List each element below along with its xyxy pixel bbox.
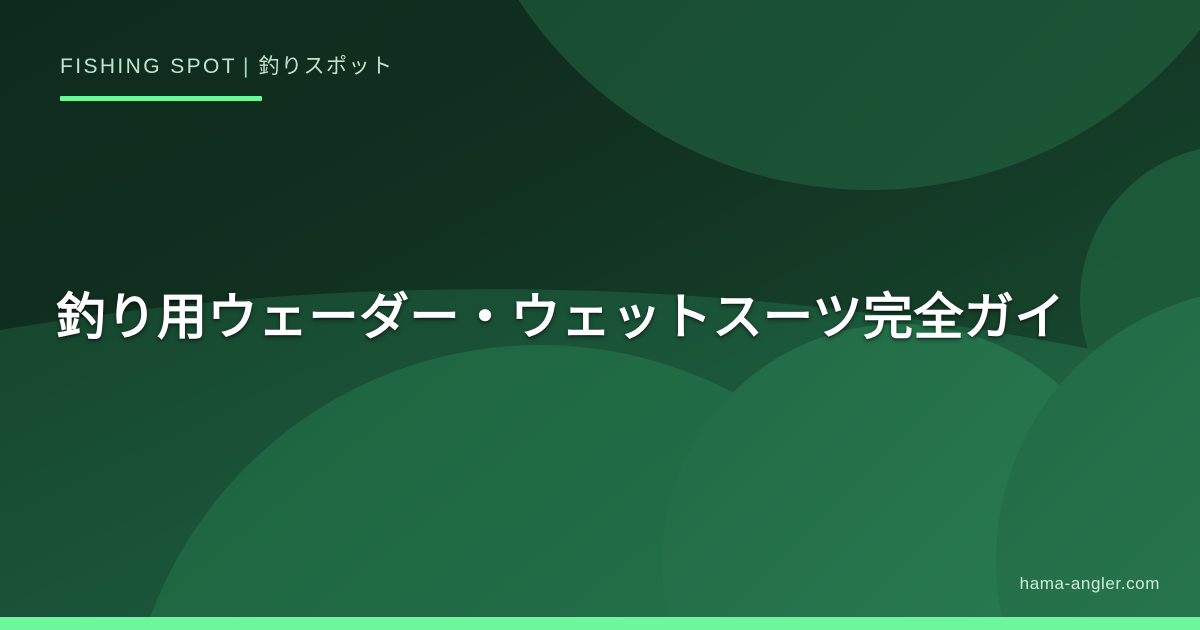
card-content: FISHING SPOT|釣りスポット 釣り用ウェーダー・ウェットスーツ完全ガイ… (0, 0, 1200, 630)
eyebrow-block: FISHING SPOT|釣りスポット (60, 52, 393, 81)
eyebrow-label-en: FISHING SPOT (60, 55, 237, 78)
eyebrow-text: FISHING SPOT|釣りスポット (60, 52, 393, 81)
eyebrow-separator: | (237, 53, 258, 81)
site-domain: hama-angler.com (1020, 573, 1160, 595)
eyebrow-label-ja: 釣りスポット (258, 54, 393, 78)
eyebrow-underline-rule (60, 96, 262, 101)
bottom-accent-bar (0, 617, 1200, 630)
og-card: FISHING SPOT|釣りスポット 釣り用ウェーダー・ウェットスーツ完全ガイ… (0, 0, 1200, 630)
page-title: 釣り用ウェーダー・ウェットスーツ完全ガイ (56, 286, 1166, 348)
